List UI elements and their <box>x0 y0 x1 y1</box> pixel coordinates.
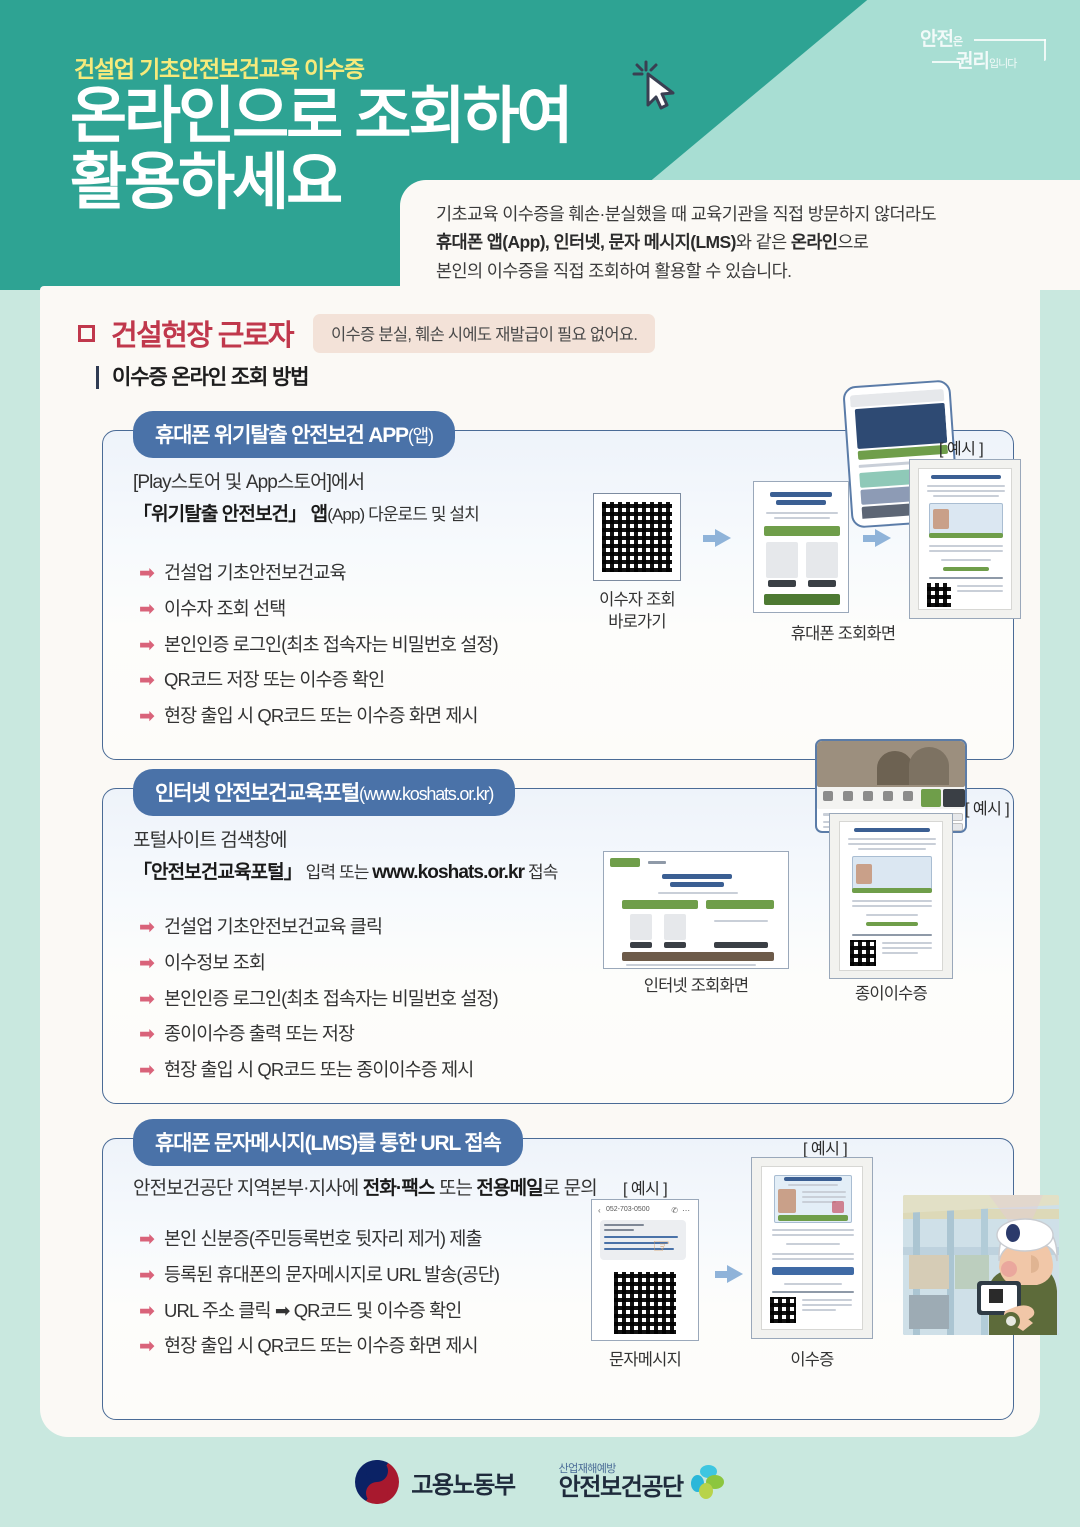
header-eyebrow: 건설업 기초안전보건교육 이수증 <box>74 50 364 84</box>
step-label: 현장 출입 시 QR코드 또는 종이이수증 제시 <box>164 1058 473 1081</box>
caption-lms-certificate: 이수증 <box>751 1349 873 1371</box>
step-label: 건설업 기초안전보건교육 클릭 <box>164 915 382 938</box>
mock-btn-2 <box>664 942 686 948</box>
step-label: 이수정보 조회 <box>164 951 265 974</box>
paper-certificate-mock <box>839 821 943 971</box>
back-chevron-icon: ‹ <box>598 1206 601 1215</box>
kosha-text: 산업재해예방 안전보건공단 <box>559 1463 683 1501</box>
list-item: ➡현장 출입 시 QR코드 또는 이수증 화면 제시 <box>139 704 498 729</box>
list-item: ➡종이이수증 출력 또는 저장 <box>139 1022 498 1047</box>
screen-inner: 052-703-0500 ‹ ✆ ⋯ ☞ <box>598 1206 692 1334</box>
list-item: ➡URL 주소 클릭 ➡ QR코드 및 이수증 확인 <box>139 1299 499 1324</box>
hand-pointer-icon: ☞ <box>652 1234 671 1259</box>
arrow-icon: ➡ <box>139 1059 154 1083</box>
cert-title <box>931 475 1001 479</box>
caption-paper-certificate: 종이이수증 <box>829 983 953 1005</box>
mock-notice-band <box>622 952 774 961</box>
sms-line <box>604 1224 644 1226</box>
caption-line-1: 이수자 조회 <box>573 589 701 611</box>
method-lms-lead: 안전보건공단 지역본부·지사에 전화·팩스 또는 전용메일로 문의 <box>133 1173 597 1205</box>
lms-lead-mid: 또는 <box>434 1178 476 1199</box>
kosha-label: 안전보건공단 <box>559 1474 683 1501</box>
flow-arrow-2 <box>863 529 891 547</box>
brand-row-2: 권리입니다 <box>956 52 1016 73</box>
cert-band <box>929 533 1003 538</box>
arrow-icon: ➡ <box>139 705 154 729</box>
method-app-lead: [Play스토어 및 App스토어]에서 「위기탈출 안전보건」 앱(App) … <box>133 467 479 532</box>
cert-line <box>957 585 1003 587</box>
arrow-icon: ➡ <box>139 1264 154 1288</box>
cert-line <box>848 843 936 845</box>
cert-line <box>772 1258 854 1260</box>
portal-nav-icon <box>823 791 833 801</box>
step-label: 종이이수증 출력 또는 저장 <box>164 1022 354 1045</box>
step-label: URL 주소 클릭 ➡ QR코드 및 이수증 확인 <box>164 1299 461 1322</box>
cert-photo <box>856 864 872 884</box>
cert-line <box>866 914 918 916</box>
method-app-steps: ➡건설업 기초안전보건교육 ➡이수자 조회 선택 ➡본인인증 로그인(최초 접속… <box>139 561 498 740</box>
flow-arrow-1 <box>703 529 731 547</box>
method-internet-lead-line1: 포털사이트 검색창에 <box>133 825 557 857</box>
lede-suffix: 으로 <box>837 232 868 252</box>
list-item: ➡QR코드 저장 또는 이수증 확인 <box>139 668 498 693</box>
step-label: 현장 출입 시 QR코드 또는 이수증 화면 제시 <box>164 1334 478 1357</box>
arrow-icon: ➡ <box>139 952 154 976</box>
qr-code-shortcut <box>593 493 681 581</box>
step-label: 본인인증 로그인(최초 접속자는 비밀번호 설정) <box>164 633 498 656</box>
cert-divider <box>852 934 932 936</box>
mock-line <box>774 517 830 519</box>
poster-footer: 고용노동부 산업재해예방 안전보건공단 <box>0 1437 1080 1527</box>
sub-section-title: 이수증 온라인 조회 방법 <box>96 366 308 389</box>
cert-line <box>772 1229 854 1231</box>
cert-band <box>778 1215 848 1221</box>
portal-nav-icon <box>903 791 913 801</box>
lede-line-3: 본인의 이수증을 직접 조회하여 활용할 수 있습니다. <box>436 257 1052 285</box>
cert-line <box>802 1304 852 1306</box>
portal-hero-person-2 <box>909 747 949 785</box>
cert-line <box>933 495 999 497</box>
sms-line <box>604 1229 634 1231</box>
arrow-icon: ➡ <box>139 669 154 693</box>
cert-qr <box>850 940 876 966</box>
step-label: 이수자 조회 선택 <box>164 597 285 620</box>
qr-pattern <box>602 502 672 572</box>
example-tag-sms: [ 예시 ] <box>623 1175 667 1199</box>
arrow-icon: ➡ <box>139 916 154 940</box>
cert-line <box>882 952 918 954</box>
cert-band-2 <box>943 567 989 571</box>
example-tag-lms-cert: [ 예시 ] <box>803 1135 847 1159</box>
worker-section-header: 건설현장 근로자 이수증 분실, 훼손 시에도 재발급이 필요 없어요. <box>78 312 655 354</box>
mock-title-1 <box>770 492 832 497</box>
mock-line <box>658 892 738 894</box>
lede-line-1: 기초교육 이수증을 훼손·분실했을 때 교육기관을 직접 방문하지 않더라도 <box>436 200 1052 228</box>
caption-app-screen: 휴대폰 조회화면 <box>753 623 933 645</box>
lede-bold-online: 온라인 <box>791 232 838 252</box>
cert-qr <box>770 1297 796 1323</box>
list-item: ➡건설업 기초안전보건교육 클릭 <box>139 915 498 940</box>
cert-line <box>784 1283 842 1285</box>
poster-header: 안전은 권리입니다 건설업 기초안전보건교육 이수증 온라인으로 조회하여 활용… <box>0 0 1080 290</box>
cert-line <box>802 1196 846 1198</box>
portal-nav-dark <box>943 789 965 807</box>
app-login-screen-mock <box>753 481 849 613</box>
cert-line <box>929 550 1003 552</box>
caption-internet-screen: 인터넷 조회화면 <box>603 975 789 997</box>
cert-divider <box>929 577 1003 579</box>
arrow-icon: ➡ <box>139 1335 154 1359</box>
cert-line <box>927 485 1005 487</box>
brand-row-1: 안전은 <box>920 30 962 51</box>
moel-label: 고용노동부 <box>411 1465 514 1500</box>
section-title: 건설현장 근로자 <box>111 312 293 354</box>
list-item: ➡현장 출입 시 QR코드 또는 이수증 화면 제시 <box>139 1334 499 1359</box>
mock-cta <box>764 526 840 536</box>
mock-option-ipin <box>806 542 838 578</box>
method-lms-lead-line: 안전보건공단 지역본부·지사에 전화·팩스 또는 전용메일로 문의 <box>133 1173 597 1205</box>
example-tag-internet: [ 예시 ] <box>965 795 1009 819</box>
method-box-internet: 인터넷 안전보건교육포털(www.koshats.or.kr) 포털사이트 검색… <box>102 788 1014 1104</box>
kosha-logo: 산업재해예방 안전보건공단 <box>559 1463 725 1501</box>
portal-nav-icon <box>843 791 853 801</box>
cert-line <box>788 1184 838 1186</box>
mock-btn-3 <box>714 942 768 948</box>
cert-line <box>957 590 1003 592</box>
body-card: 건설현장 근로자 이수증 분실, 훼손 시에도 재발급이 필요 없어요. 이수증… <box>40 286 1040 1437</box>
method-internet-lead-rest: 접속 <box>524 863 557 882</box>
step-label: QR코드 저장 또는 이수증 확인 <box>164 668 384 691</box>
mock-btn-2 <box>808 580 836 587</box>
mock-btn-1 <box>630 942 652 948</box>
sms-screen-mock: 052-703-0500 ‹ ✆ ⋯ ☞ <box>591 1199 699 1341</box>
header-description-card: 기초교육 이수증을 훼손·분실했을 때 교육기관을 직접 방문하지 않더라도 휴… <box>400 180 1080 290</box>
mock-btn-1 <box>768 580 796 587</box>
cert-line <box>882 947 932 949</box>
cert-band-2 <box>866 922 918 926</box>
cert-photo <box>778 1189 796 1213</box>
method-app-lead-bold: 「위기탈출 안전보건」 앱 <box>133 504 327 525</box>
poster-root: 안전은 권리입니다 건설업 기초안전보건교육 이수증 온라인으로 조회하여 활용… <box>0 0 1080 1527</box>
call-icon: ✆ <box>671 1206 678 1215</box>
portal-hero-person-1 <box>877 751 913 785</box>
method-tab-lms: 휴대폰 문자메시지(LMS)를 통한 URL 접속 <box>133 1119 523 1166</box>
mock-cta-2 <box>764 594 840 605</box>
cert-line <box>772 1234 854 1236</box>
list-item: ➡등록된 휴대폰의 문자메시지로 URL 발송(공단) <box>139 1263 499 1288</box>
arrow-icon: ➡ <box>139 634 154 658</box>
cert-line <box>852 905 932 907</box>
list-item: ➡현장 출입 시 QR코드 또는 종이이수증 제시 <box>139 1058 498 1083</box>
caption-sms: 문자메시지 <box>591 1349 699 1371</box>
list-item: ➡본인 신분증(주민등록번호 뒷자리 제거) 제출 <box>139 1227 499 1252</box>
brand-line-corner <box>1044 39 1046 61</box>
mock-cta-left <box>622 900 698 909</box>
lms-lead-bold-2: 전용메일 <box>476 1178 542 1199</box>
cert-line <box>929 545 1003 547</box>
arrow-stem <box>703 535 715 542</box>
arrow-stem <box>715 1271 727 1278</box>
caption-qr-shortcut: 이수자 조회 바로가기 <box>573 589 701 634</box>
caption-line-2: 바로가기 <box>573 611 701 633</box>
arrow-icon: ➡ <box>139 562 154 586</box>
method-tab-app-main: 휴대폰 위기탈출 안전보건 APP <box>155 424 408 447</box>
lede-line-2: 휴대폰 앱(App), 인터넷, 문자 메시지(LMS)와 같은 온라인으로 <box>436 228 1052 256</box>
list-item: ➡본인인증 로그인(최초 접속자는 비밀번호 설정) <box>139 987 498 1012</box>
cert-line <box>941 559 991 561</box>
method-internet-lead-mid: 입력 또는 <box>302 863 372 882</box>
method-lms-steps: ➡본인 신분증(주민등록번호 뒷자리 제거) 제출 ➡등록된 휴대폰의 문자메시… <box>139 1227 499 1370</box>
example-tag-app: [ 예시 ] <box>939 435 983 459</box>
cert-line <box>802 1201 836 1203</box>
cert-title <box>854 828 930 832</box>
lms-certificate-mock <box>761 1166 863 1330</box>
portal-login-screen-mock <box>603 851 789 969</box>
cert-footer-band <box>772 1267 854 1275</box>
step-label: 본인인증 로그인(최초 접속자는 비밀번호 설정) <box>164 987 498 1010</box>
mock-title-2 <box>776 500 826 505</box>
method-internet-steps: ➡건설업 기초안전보건교육 클릭 ➡이수정보 조회 ➡본인인증 로그인(최초 접… <box>139 915 498 1094</box>
cert-line <box>852 900 932 902</box>
cert-photo <box>933 509 949 529</box>
arrow-icon: ➡ <box>139 598 154 622</box>
step-label: 건설업 기초안전보건교육 <box>164 561 346 584</box>
lms-lead-suffix: 로 문의 <box>543 1178 597 1199</box>
worker-illustration-svg <box>903 1195 1059 1335</box>
mouse-cursor-icon <box>630 58 690 123</box>
status-badge: 이수증 분실, 훼손 시에도 재발급이 필요 없어요. <box>313 314 655 353</box>
portal-nav-highlight <box>921 789 941 807</box>
app-certificate-frame <box>909 459 1021 619</box>
sms-phone-number: 052-703-0500 <box>606 1206 650 1213</box>
more-icon: ⋯ <box>682 1206 690 1215</box>
headline-line-1: 온라인으로 조회하여 <box>70 82 571 151</box>
phone-banner <box>855 403 948 449</box>
cert-divider <box>772 1291 854 1293</box>
mock-title-1 <box>662 874 732 879</box>
screen-inner <box>610 858 782 962</box>
method-internet-lead-bold: 「안전보건교육포털」 <box>133 862 302 883</box>
arrow-head-icon <box>727 1265 743 1283</box>
sms-qr-code <box>614 1272 676 1334</box>
lms-certificate-frame <box>751 1157 873 1339</box>
method-tab-lms-main: 휴대폰 문자메시지(LMS)를 통한 URL 접속 <box>155 1132 501 1155</box>
worker-illustration <box>903 1195 1059 1335</box>
flow-arrow-lms <box>715 1265 743 1283</box>
mock-option-phone <box>766 542 798 578</box>
cert-line <box>927 490 1005 492</box>
list-item: ➡이수자 조회 선택 <box>139 597 498 622</box>
method-tab-app-sub: (앱) <box>408 426 433 446</box>
arrow-icon: ➡ <box>139 988 154 1012</box>
cert-line <box>802 1309 836 1311</box>
mock-option-phone <box>630 914 652 940</box>
method-box-lms: 휴대폰 문자메시지(LMS)를 통한 URL 접속 안전보건공단 지역본부·지사… <box>102 1138 1014 1420</box>
lede-bold-channels: 휴대폰 앱(App), 인터넷, 문자 메시지(LMS) <box>436 232 736 252</box>
step-label: 현장 출입 시 QR코드 또는 이수증 화면 제시 <box>164 704 478 727</box>
mock-line <box>626 964 756 966</box>
cert-line <box>848 838 936 840</box>
portal-url[interactable]: www.koshats.or.kr <box>372 862 524 883</box>
moel-logo: 고용노동부 <box>355 1460 514 1504</box>
cert-band <box>852 888 932 893</box>
method-internet-lead: 포털사이트 검색창에 「안전보건교육포털」 입력 또는 www.koshats.… <box>133 825 557 890</box>
mock-option-ipin <box>664 914 686 940</box>
arrow-stem <box>863 535 875 542</box>
cert-stamp <box>832 1201 844 1213</box>
cert-qr <box>927 583 951 607</box>
screen-inner <box>760 488 842 606</box>
paper-certificate-frame <box>829 813 953 979</box>
portal-nav-icon <box>883 791 893 801</box>
cert-line <box>882 942 932 944</box>
method-internet-lead-line2: 「안전보건교육포털」 입력 또는 www.koshats.or.kr 접속 <box>133 857 557 889</box>
cert-line <box>786 1243 840 1245</box>
arrow-icon: ➡ <box>139 1023 154 1047</box>
list-item: ➡이수정보 조회 <box>139 951 498 976</box>
cert-line <box>802 1191 846 1193</box>
safety-is-right-logo: 안전은 권리입니다 <box>902 26 1052 78</box>
mock-tag <box>610 858 640 867</box>
mock-title-2 <box>670 882 724 887</box>
cert-line <box>802 1299 852 1301</box>
list-item: ➡건설업 기초안전보건교육 <box>139 561 498 586</box>
lms-lead-prefix: 안전보건공단 지역본부·지사에 <box>133 1178 363 1199</box>
method-tab-app: 휴대폰 위기탈출 안전보건 APP(앱) <box>133 411 455 458</box>
arrow-icon: ➡ <box>139 1228 154 1252</box>
kosha-petal-4 <box>699 1483 713 1499</box>
method-tab-internet-sub: (www.koshats.or.kr) <box>359 784 493 804</box>
mock-cta-right <box>706 900 774 909</box>
arrow-head-icon <box>715 529 731 547</box>
portal-nav-icon <box>863 791 873 801</box>
taegeuk-icon <box>355 1460 399 1504</box>
method-box-app: 휴대폰 위기탈출 안전보건 APP(앱) [Play스토어 및 App스토어]에… <box>102 430 1014 760</box>
cert-line <box>772 1253 854 1255</box>
cert-line <box>858 848 926 850</box>
kosha-mark-icon <box>691 1465 725 1499</box>
mock-line <box>766 512 838 514</box>
step-label: 등록된 휴대폰의 문자메시지로 URL 발송(공단) <box>164 1263 499 1286</box>
lede-mid: 와 같은 <box>736 232 791 252</box>
arrow-head-icon <box>875 529 891 547</box>
arrow-icon: ➡ <box>139 1300 154 1324</box>
brand-line-top <box>974 39 1046 41</box>
list-item: ➡본인인증 로그인(최초 접속자는 비밀번호 설정) <box>139 633 498 658</box>
square-bullet-icon <box>78 325 95 342</box>
method-tab-internet: 인터넷 안전보건교육포털(www.koshats.or.kr) <box>133 769 515 816</box>
method-app-lead-line1: [Play스토어 및 App스토어]에서 <box>133 467 479 499</box>
certificate-mock <box>918 468 1012 610</box>
cert-title <box>784 1177 842 1181</box>
method-app-lead-rest: (App) 다운로드 및 설치 <box>327 505 479 524</box>
sms-bubble <box>600 1220 686 1260</box>
lms-lead-bold-1: 전화·팩스 <box>363 1178 435 1199</box>
method-tab-internet-main: 인터넷 안전보건교육포털 <box>155 782 359 805</box>
step-label: 본인 신분증(주민등록번호 뒷자리 제거) 제출 <box>164 1227 482 1250</box>
method-app-lead-line2: 「위기탈출 안전보건」 앱(App) 다운로드 및 설치 <box>133 499 479 531</box>
mock-line <box>648 861 666 864</box>
mock-line <box>714 920 768 922</box>
